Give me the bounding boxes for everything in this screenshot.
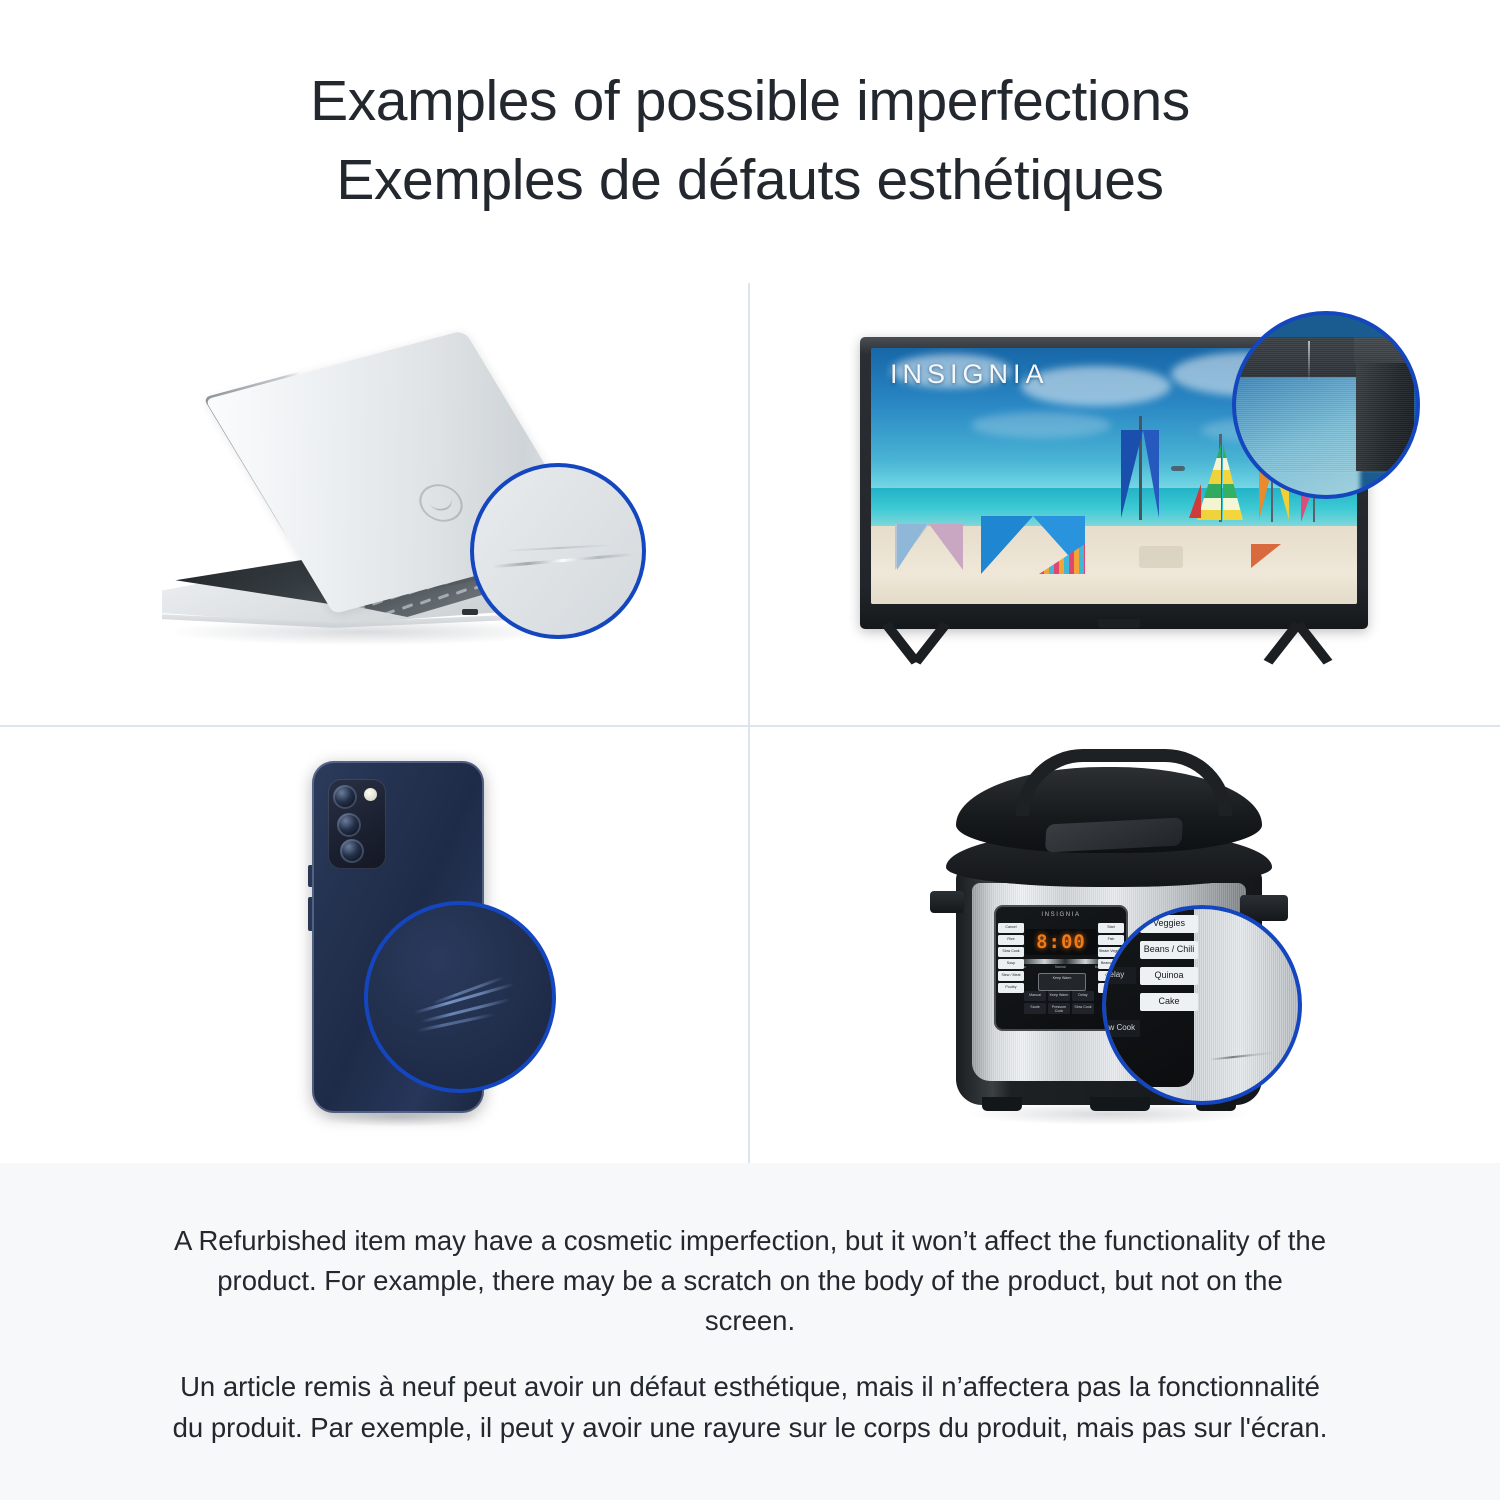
television-illustration: INSIGNIA <box>860 319 1420 699</box>
tv-ir-sensor <box>1098 619 1140 628</box>
pressure-cooker-illustration: INSIGNIA 8:00 Low Normal More Keep Warm <box>920 745 1340 1145</box>
cooker-foot-left <box>982 1097 1022 1111</box>
magnified-button: Cake <box>1140 993 1198 1011</box>
disclaimer-english: A Refurbished item may have a cosmetic i… <box>170 1221 1330 1341</box>
quadrant-laptop <box>0 283 748 725</box>
page-title-english: Examples of possible imperfections <box>0 62 1500 141</box>
cooker-pressure-labels: Low Normal More <box>1020 965 1102 969</box>
magnified-button: Quinoa <box>1140 967 1198 985</box>
quadrant-smartphone <box>0 727 748 1163</box>
scratch-mark <box>417 1013 496 1033</box>
quadrant-television: INSIGNIA <box>750 283 1500 725</box>
phone-camera-module <box>328 779 386 869</box>
cooker-left-button-column[interactable]: Cancel Rice Slow Cook Soup Stew / Meat P… <box>998 923 1024 993</box>
cooker-lid-handle[interactable] <box>1016 749 1232 816</box>
disclaimer-french: Un article remis à neuf peut avoir un dé… <box>170 1367 1330 1447</box>
cooker-button[interactable]: Saute <box>1024 1003 1046 1014</box>
laptop-illustration <box>140 343 660 673</box>
smartphone-illustration <box>268 755 528 1135</box>
cooker-handle-left[interactable] <box>930 891 964 913</box>
scratch-mark <box>492 553 634 568</box>
cooker-button[interactable]: Cancel <box>998 923 1024 933</box>
camera-lens-icon <box>340 839 364 863</box>
cooker-button[interactable]: Delay <box>1072 991 1094 1001</box>
magnifier-cooker-scratch: Veggies Beans / Chili Quinoa Cake Delay … <box>1102 905 1302 1105</box>
cooker-center-readout: Keep Warm <box>1038 973 1086 991</box>
cooker-button[interactable]: Soup <box>998 959 1024 969</box>
magnified-button: Veggies <box>1140 915 1198 933</box>
camera-flash-icon <box>364 788 377 801</box>
tv-brand-logo: INSIGNIA <box>890 359 1049 390</box>
magnified-button: Delay <box>1102 967 1136 984</box>
cooker-button[interactable]: Poultry <box>998 983 1024 993</box>
magnifier-laptop-scratch <box>470 463 646 639</box>
camera-lens-icon <box>333 785 357 809</box>
cooker-led-display: 8:00 <box>1025 929 1097 955</box>
phone-power-button[interactable] <box>308 897 312 931</box>
magnified-button: Slow Cook <box>1102 1020 1140 1037</box>
cooker-button[interactable]: Rice <box>998 935 1024 945</box>
footer-disclaimer: A Refurbished item may have a cosmetic i… <box>0 1163 1500 1500</box>
imperfections-infographic: Examples of possible imperfections Exemp… <box>0 0 1500 1500</box>
quadrant-pressure-cooker: INSIGNIA 8:00 Low Normal More Keep Warm <box>750 727 1500 1163</box>
camera-lens-icon <box>337 813 361 837</box>
cooker-display-value: 8:00 <box>1036 931 1086 953</box>
cooker-button[interactable]: Manual <box>1024 991 1046 1001</box>
cooker-button[interactable]: Keep Warm <box>1048 991 1070 1001</box>
cooker-pressure-indicator <box>1020 959 1102 964</box>
magnifier-phone-scratches <box>364 901 556 1093</box>
cooker-button[interactable]: Slow Cook <box>998 947 1024 957</box>
product-example-grid: INSIGNIA <box>0 283 1500 1163</box>
magnified-button: Beans / Chili <box>1140 941 1198 959</box>
laptop-usb-port <box>462 609 478 615</box>
cooker-foot-center <box>1090 1097 1150 1111</box>
scratch-mark-secondary <box>504 544 614 552</box>
cooker-button[interactable]: Stew / Meat <box>998 971 1024 981</box>
cooker-button[interactable]: Pressure Cook <box>1048 1003 1070 1014</box>
cooker-button[interactable]: Slow Cook <box>1072 1003 1094 1014</box>
page-title: Examples of possible imperfections Exemp… <box>0 62 1500 219</box>
phone-volume-button[interactable] <box>308 865 312 887</box>
magnified-button-column: Veggies Beans / Chili Quinoa Cake <box>1140 915 1198 1011</box>
magnifier-tv-bezel-scratch <box>1232 311 1420 499</box>
magnified-left-labels: Delay Slow Cook <box>1102 967 1140 1037</box>
magnified-bezel-texture <box>1232 337 1416 473</box>
page-title-french: Exemples de défauts esthétiques <box>0 141 1500 220</box>
magnified-steel-texture <box>1190 909 1302 1105</box>
scratch-mark <box>1308 341 1310 383</box>
cooker-center-button-group[interactable]: Manual Keep Warm Delay Saute Pressure Co… <box>1024 991 1098 1014</box>
